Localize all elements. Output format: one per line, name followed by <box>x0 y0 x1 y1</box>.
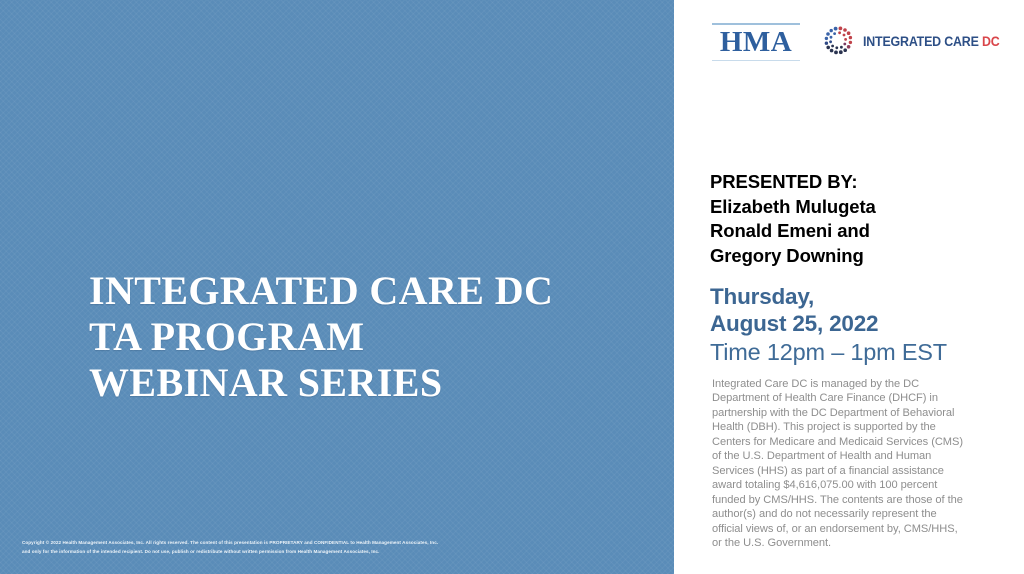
title-slide: INTEGRATED CARE DC TA PROGRAM WEBINAR SE… <box>0 0 1024 574</box>
hma-logo: HMA <box>712 23 800 61</box>
integrated-care-dc-ring-icon <box>822 25 856 59</box>
hma-logo-wordmark: HMA <box>712 25 800 60</box>
presenters-block: PRESENTED BY: Elizabeth Mulugeta Ronald … <box>710 170 1010 268</box>
presenter-name-1: Elizabeth Mulugeta <box>710 195 1010 220</box>
presented-by-heading: PRESENTED BY: <box>710 170 1010 195</box>
event-date: August 25, 2022 <box>710 310 1015 337</box>
hma-logo-bottom-rule <box>712 60 800 62</box>
integrated-care-dc-wordmark-accent: DC <box>982 34 1000 49</box>
page-title-line-2: TA PROGRAM <box>89 314 649 360</box>
integrated-care-dc-wordmark-main: INTEGRATED CARE <box>863 34 982 49</box>
copyright-line-1: Copyright © 2022 Health Management Assoc… <box>22 539 442 548</box>
logo-row: HMA <box>712 20 1012 68</box>
integrated-care-dc-logo: INTEGRATED CARE DC <box>822 25 1011 59</box>
copyright-line-2: and only for the information of the inte… <box>22 548 442 557</box>
event-time: Time 12pm – 1pm EST <box>710 337 1015 367</box>
presenter-name-2: Ronald Emeni and <box>710 219 1010 244</box>
page-title-line-3: WEBINAR SERIES <box>89 360 649 406</box>
integrated-care-dc-wordmark: INTEGRATED CARE DC <box>863 35 1000 49</box>
page-title: INTEGRATED CARE DC TA PROGRAM WEBINAR SE… <box>89 268 649 406</box>
copyright-notice: Copyright © 2022 Health Management Assoc… <box>22 539 442 556</box>
funding-disclaimer: Integrated Care DC is managed by the DC … <box>712 377 964 550</box>
event-day: Thursday, <box>710 283 1015 310</box>
right-content-panel: HMA <box>674 0 1024 574</box>
left-blue-panel: INTEGRATED CARE DC TA PROGRAM WEBINAR SE… <box>0 0 674 574</box>
presenter-name-3: Gregory Downing <box>710 244 1010 269</box>
event-datetime-block: Thursday, August 25, 2022 Time 12pm – 1p… <box>710 283 1015 367</box>
page-title-line-1: INTEGRATED CARE DC <box>89 268 649 314</box>
